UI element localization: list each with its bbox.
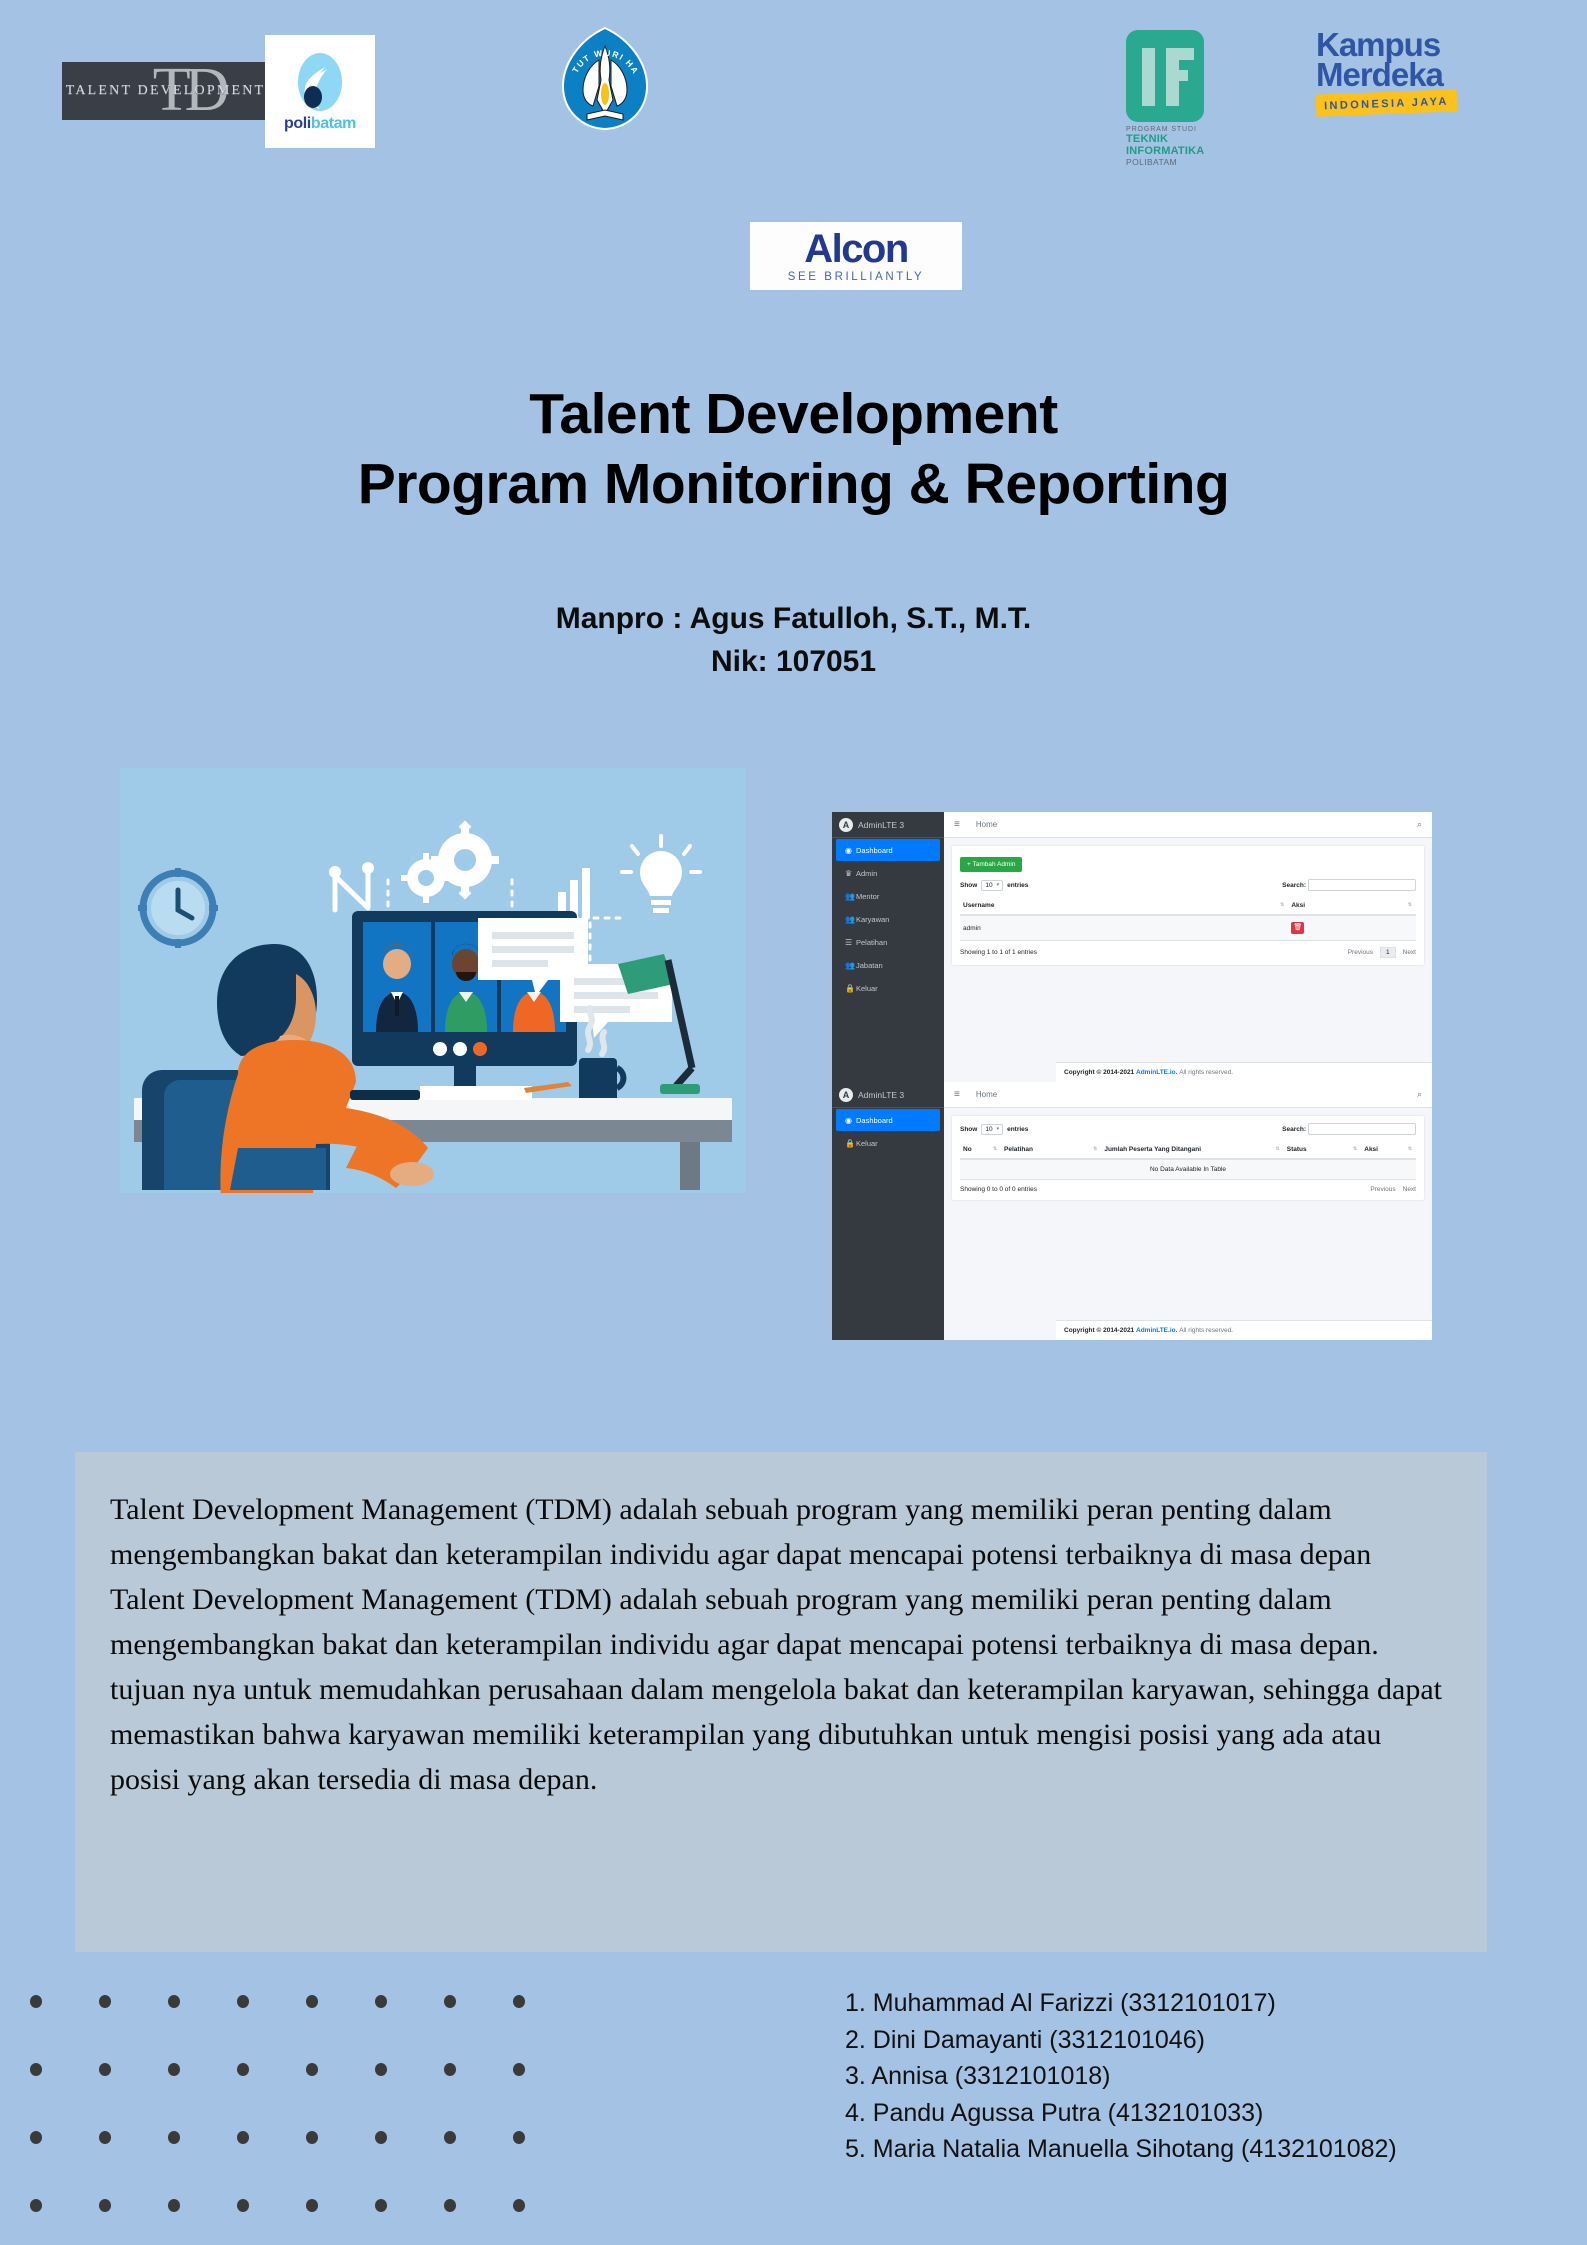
alcon-tagline: SEE BRILLIANTLY <box>788 271 925 283</box>
title-line-1: Talent Development <box>0 380 1587 450</box>
ti-caption-major: TEKNIK INFORMATIKA <box>1126 133 1236 157</box>
adminlte-logo-icon: A <box>839 1088 853 1102</box>
adminlte-link[interactable]: AdminLTE.io. <box>1136 1069 1177 1076</box>
sidebar-item-karyawan[interactable]: 👥 Karyawan <box>836 908 940 930</box>
list-item: 5. Maria Natalia Manuella Sihotang (4132… <box>845 2131 1545 2168</box>
sidebar-item-dashboard[interactable]: ◉ Dashboard <box>836 1109 940 1131</box>
polibatam-logo: polibatam <box>265 35 375 148</box>
poster-canvas: TD TALENT DEVELOPMENT polibatam <box>0 0 1587 2245</box>
title-line-2: Program Monitoring & Reporting <box>0 450 1587 520</box>
sidebar: A AdminLTE 3 ◉ Dashboard ♛ Admin 👥 Mento… <box>832 812 944 1082</box>
search-input[interactable] <box>1308 1123 1416 1135</box>
tut-wuri-handayani-logo: TUT WURI HANDAYANI <box>557 26 653 131</box>
dot-row <box>30 2199 560 2212</box>
add-admin-button[interactable]: + Tambah Admin <box>960 857 1022 872</box>
lock-icon: 🔒 <box>845 984 856 993</box>
adminlte-link[interactable]: AdminLTE.io. <box>1136 1327 1177 1334</box>
sort-icon: ⇅ <box>1280 902 1284 908</box>
footer: Copyright © 2014-2021 AdminLTE.io. All r… <box>1056 1062 1432 1082</box>
list-item: 2. Dini Damayanti (3312101046) <box>845 2022 1545 2059</box>
entries-label: entries <box>1007 882 1028 889</box>
sidebar-item-dashboard[interactable]: ◉ Dashboard <box>836 839 940 861</box>
sort-icon: ⇅ <box>1408 1146 1412 1152</box>
previous-button[interactable]: Previous <box>1370 1186 1395 1193</box>
subtitle-manpro: Manpro : Agus Fatulloh, S.T., M.T. <box>0 598 1587 641</box>
footer-rights: All rights reserved. <box>1179 1069 1233 1076</box>
sort-icon: ⇅ <box>1276 1146 1280 1152</box>
table-controls: Show 10 ▾ entries Search: <box>960 1123 1416 1135</box>
sidebar-item-label: Keluar <box>856 984 878 993</box>
next-button[interactable]: Next <box>1403 1186 1416 1193</box>
teknik-informatika-logo: PROGRAM STUDI TEKNIK INFORMATIKA POLIBAT… <box>1126 30 1236 150</box>
search-input[interactable] <box>1308 879 1416 891</box>
hamburger-icon[interactable]: ≡ <box>954 1089 960 1100</box>
table-header-row: No⇅ Pelatihan⇅ Jumlah Peserta Yang Ditan… <box>960 1141 1416 1159</box>
user-shield-icon: ♛ <box>845 869 856 878</box>
polibatam-word-b: batam <box>311 115 356 132</box>
page-title: Talent Development Program Monitoring & … <box>0 380 1587 519</box>
column-status[interactable]: Status⇅ <box>1284 1141 1362 1159</box>
column-aksi[interactable]: Aksi⇅ <box>1288 897 1416 915</box>
table-footer: Showing 1 to 1 of 1 entries Previous 1 N… <box>960 947 1416 958</box>
search-label: Search: <box>1282 882 1306 889</box>
sort-icon: ⇅ <box>1408 902 1412 908</box>
kampus-merdeka-ribbon: INDONESIA JAYA <box>1316 89 1457 116</box>
sidebar-item-label: Jabatan <box>856 961 883 970</box>
search-label: Search: <box>1282 1126 1306 1133</box>
footer-rights: All rights reserved. <box>1179 1327 1233 1334</box>
team-member-list: 1. Muhammad Al Farizzi (3312101017) 2. D… <box>845 1985 1545 2168</box>
list-item: 4. Pandu Agussa Putra (4132101033) <box>845 2095 1545 2132</box>
logo-row: TD TALENT DEVELOPMENT polibatam <box>0 0 1587 215</box>
page-subtitle: Manpro : Agus Fatulloh, S.T., M.T. Nik: … <box>0 598 1587 683</box>
dot-row <box>30 2063 560 2076</box>
top-navbar: ≡ Home ⌕ <box>944 1082 1432 1108</box>
users-icon: 👥 <box>845 961 856 970</box>
next-button[interactable]: Next <box>1403 949 1416 956</box>
sort-icon: ⇅ <box>1093 1146 1097 1152</box>
entries-value: 10 <box>985 882 992 889</box>
lock-icon: 🔒 <box>845 1139 856 1148</box>
sidebar-item-jabatan[interactable]: 👥 Jabatan <box>836 954 940 976</box>
trash-icon[interactable]: 🗑 <box>1291 922 1304 934</box>
entries-select[interactable]: 10 ▾ <box>981 1124 1003 1135</box>
ti-caption-program: PROGRAM STUDI <box>1126 126 1236 133</box>
brand[interactable]: A AdminLTE 3 <box>832 812 944 838</box>
dashboard-panel-admin: A AdminLTE 3 ◉ Dashboard ♛ Admin 👥 Mento… <box>832 812 1432 1082</box>
sort-icon: ⇅ <box>1353 1146 1357 1152</box>
cell-username: admin <box>960 915 1288 941</box>
admin-table: Username⇅ Aksi⇅ admin 🗑 <box>960 897 1416 941</box>
empty-message: No Data Available In Table <box>960 1159 1416 1180</box>
alcon-wordmark: Alcon <box>804 229 908 269</box>
column-no[interactable]: No⇅ <box>960 1141 1001 1159</box>
column-pelatihan[interactable]: Pelatihan⇅ <box>1001 1141 1101 1159</box>
sidebar-item-admin[interactable]: ♛ Admin <box>836 862 940 884</box>
admin-table-card: + Tambah Admin Show 10 ▾ entries Search: <box>952 846 1424 965</box>
polibatam-mark-icon <box>293 51 347 113</box>
showing-entries: Showing 1 to 1 of 1 entries <box>960 949 1037 956</box>
pelatihan-table: No⇅ Pelatihan⇅ Jumlah Peserta Yang Ditan… <box>960 1141 1416 1180</box>
alcon-logo: Alcon SEE BRILLIANTLY <box>750 222 962 290</box>
entries-select[interactable]: 10 ▾ <box>981 880 1003 891</box>
hamburger-icon[interactable]: ≡ <box>954 819 960 830</box>
dot-grid-decoration <box>30 1995 560 2245</box>
list-item: 3. Annisa (3312101018) <box>845 2058 1545 2095</box>
search-icon[interactable]: ⌕ <box>1417 1089 1422 1100</box>
breadcrumb[interactable]: Home <box>976 1090 997 1099</box>
dashboard-icon: ◉ <box>845 846 856 855</box>
sidebar-item-pelatihan[interactable]: ☰ Pelatihan <box>836 931 940 953</box>
sidebar-item-label: Keluar <box>856 1139 878 1148</box>
cell-aksi: 🗑 <box>1288 915 1416 941</box>
sidebar-item-keluar[interactable]: 🔒 Keluar <box>836 977 940 999</box>
adminlte-logo-icon: A <box>839 818 853 832</box>
ti-badge-icon <box>1126 30 1204 122</box>
footer-copyright: Copyright © 2014-2021 <box>1064 1069 1134 1076</box>
table-footer: Showing 0 to 0 of 0 entries Previous Nex… <box>960 1186 1416 1193</box>
talent-development-logo: TD TALENT DEVELOPMENT <box>62 62 269 120</box>
sidebar-item-label: Dashboard <box>856 846 893 855</box>
search-icon[interactable]: ⌕ <box>1417 819 1422 830</box>
search-control: Search: <box>1282 1123 1416 1135</box>
polibatam-wordmark: polibatam <box>284 115 356 133</box>
kampus-merdeka-logo: Kampus Merdeka INDONESIA JAYA <box>1316 30 1486 115</box>
dashboard-panel-mentor: A AdminLTE 3 ◉ Dashboard 🔒 Keluar ≡ Home… <box>832 1082 1432 1340</box>
users-icon: 👥 <box>845 915 856 924</box>
sidebar-item-label: Admin <box>856 869 877 878</box>
table-header-row: Username⇅ Aksi⇅ <box>960 897 1416 915</box>
main-content: ≡ Home ⌕ + Tambah Admin Show 10 ▾ en <box>944 812 1432 1082</box>
chevron-down-icon: ▾ <box>997 1126 1000 1132</box>
table-row: admin 🗑 <box>960 915 1416 941</box>
sidebar-item-label: Dashboard <box>856 1116 893 1125</box>
dashboard-screenshots: A AdminLTE 3 ◉ Dashboard ♛ Admin 👥 Mento… <box>832 812 1432 1340</box>
content-body: + Tambah Admin Show 10 ▾ entries Search: <box>944 838 1432 973</box>
dot-row <box>30 2131 560 2144</box>
breadcrumb[interactable]: Home <box>976 820 997 829</box>
table-controls: Show 10 ▾ entries Search: <box>960 879 1416 891</box>
list-icon: ☰ <box>845 938 856 947</box>
entries-value: 10 <box>985 1126 992 1133</box>
brand[interactable]: A AdminLTE 3 <box>832 1082 944 1108</box>
pelatihan-table-card: Show 10 ▾ entries Search: <box>952 1116 1424 1200</box>
pagination: Previous Next <box>1370 1186 1416 1193</box>
talent-development-logo-text: TALENT DEVELOPMENT <box>66 83 266 99</box>
search-control: Search: <box>1282 879 1416 891</box>
sidebar: A AdminLTE 3 ◉ Dashboard 🔒 Keluar <box>832 1082 944 1340</box>
footer: Copyright © 2014-2021 AdminLTE.io. All r… <box>1056 1320 1432 1340</box>
footer-copyright: Copyright © 2014-2021 <box>1064 1327 1134 1334</box>
brand-label: AdminLTE 3 <box>858 1090 904 1100</box>
show-label: Show <box>960 1126 977 1133</box>
users-icon: 👥 <box>845 892 856 901</box>
pagination: Previous 1 Next <box>1348 947 1416 958</box>
table-row-empty: No Data Available In Table <box>960 1159 1416 1180</box>
ti-caption-campus: POLIBATAM <box>1126 157 1236 167</box>
workspace-illustration <box>120 768 746 1193</box>
description-text: Talent Development Management (TDM) adal… <box>110 1487 1445 1802</box>
sidebar-item-label: Karyawan <box>856 915 889 924</box>
column-aksi[interactable]: Aksi⇅ <box>1361 1141 1416 1159</box>
description-box: Talent Development Management (TDM) adal… <box>75 1452 1487 1952</box>
list-item: 1. Muhammad Al Farizzi (3312101017) <box>845 1985 1545 2022</box>
subtitle-nik: Nik: 107051 <box>0 641 1587 684</box>
column-jumlah-peserta[interactable]: Jumlah Peserta Yang Ditangani⇅ <box>1101 1141 1283 1159</box>
showing-entries: Showing 0 to 0 of 0 entries <box>960 1186 1037 1193</box>
kampus-merdeka-line2: Merdeka <box>1316 60 1486 90</box>
dashboard-icon: ◉ <box>845 1116 856 1125</box>
brand-label: AdminLTE 3 <box>858 820 904 830</box>
page-button-1[interactable]: 1 <box>1380 947 1396 958</box>
sidebar-item-label: Pelatihan <box>856 938 887 947</box>
dot-row <box>30 1995 560 2008</box>
chevron-down-icon: ▾ <box>997 882 1000 888</box>
sort-icon: ⇅ <box>993 1146 997 1152</box>
kampus-merdeka-ribbon-text: INDONESIA JAYA <box>1324 95 1449 112</box>
previous-button[interactable]: Previous <box>1348 949 1373 956</box>
main-content: ≡ Home ⌕ Show 10 ▾ entries <box>944 1082 1432 1340</box>
top-navbar: ≡ Home ⌕ <box>944 812 1432 838</box>
show-label: Show <box>960 882 977 889</box>
sidebar-item-keluar[interactable]: 🔒 Keluar <box>836 1132 940 1154</box>
sidebar-item-mentor[interactable]: 👥 Mentor <box>836 885 940 907</box>
entries-label: entries <box>1007 1126 1028 1133</box>
column-username[interactable]: Username⇅ <box>960 897 1288 915</box>
content-body: Show 10 ▾ entries Search: <box>944 1108 1432 1208</box>
polibatam-word-a: poli <box>284 115 311 132</box>
sidebar-item-label: Mentor <box>856 892 879 901</box>
